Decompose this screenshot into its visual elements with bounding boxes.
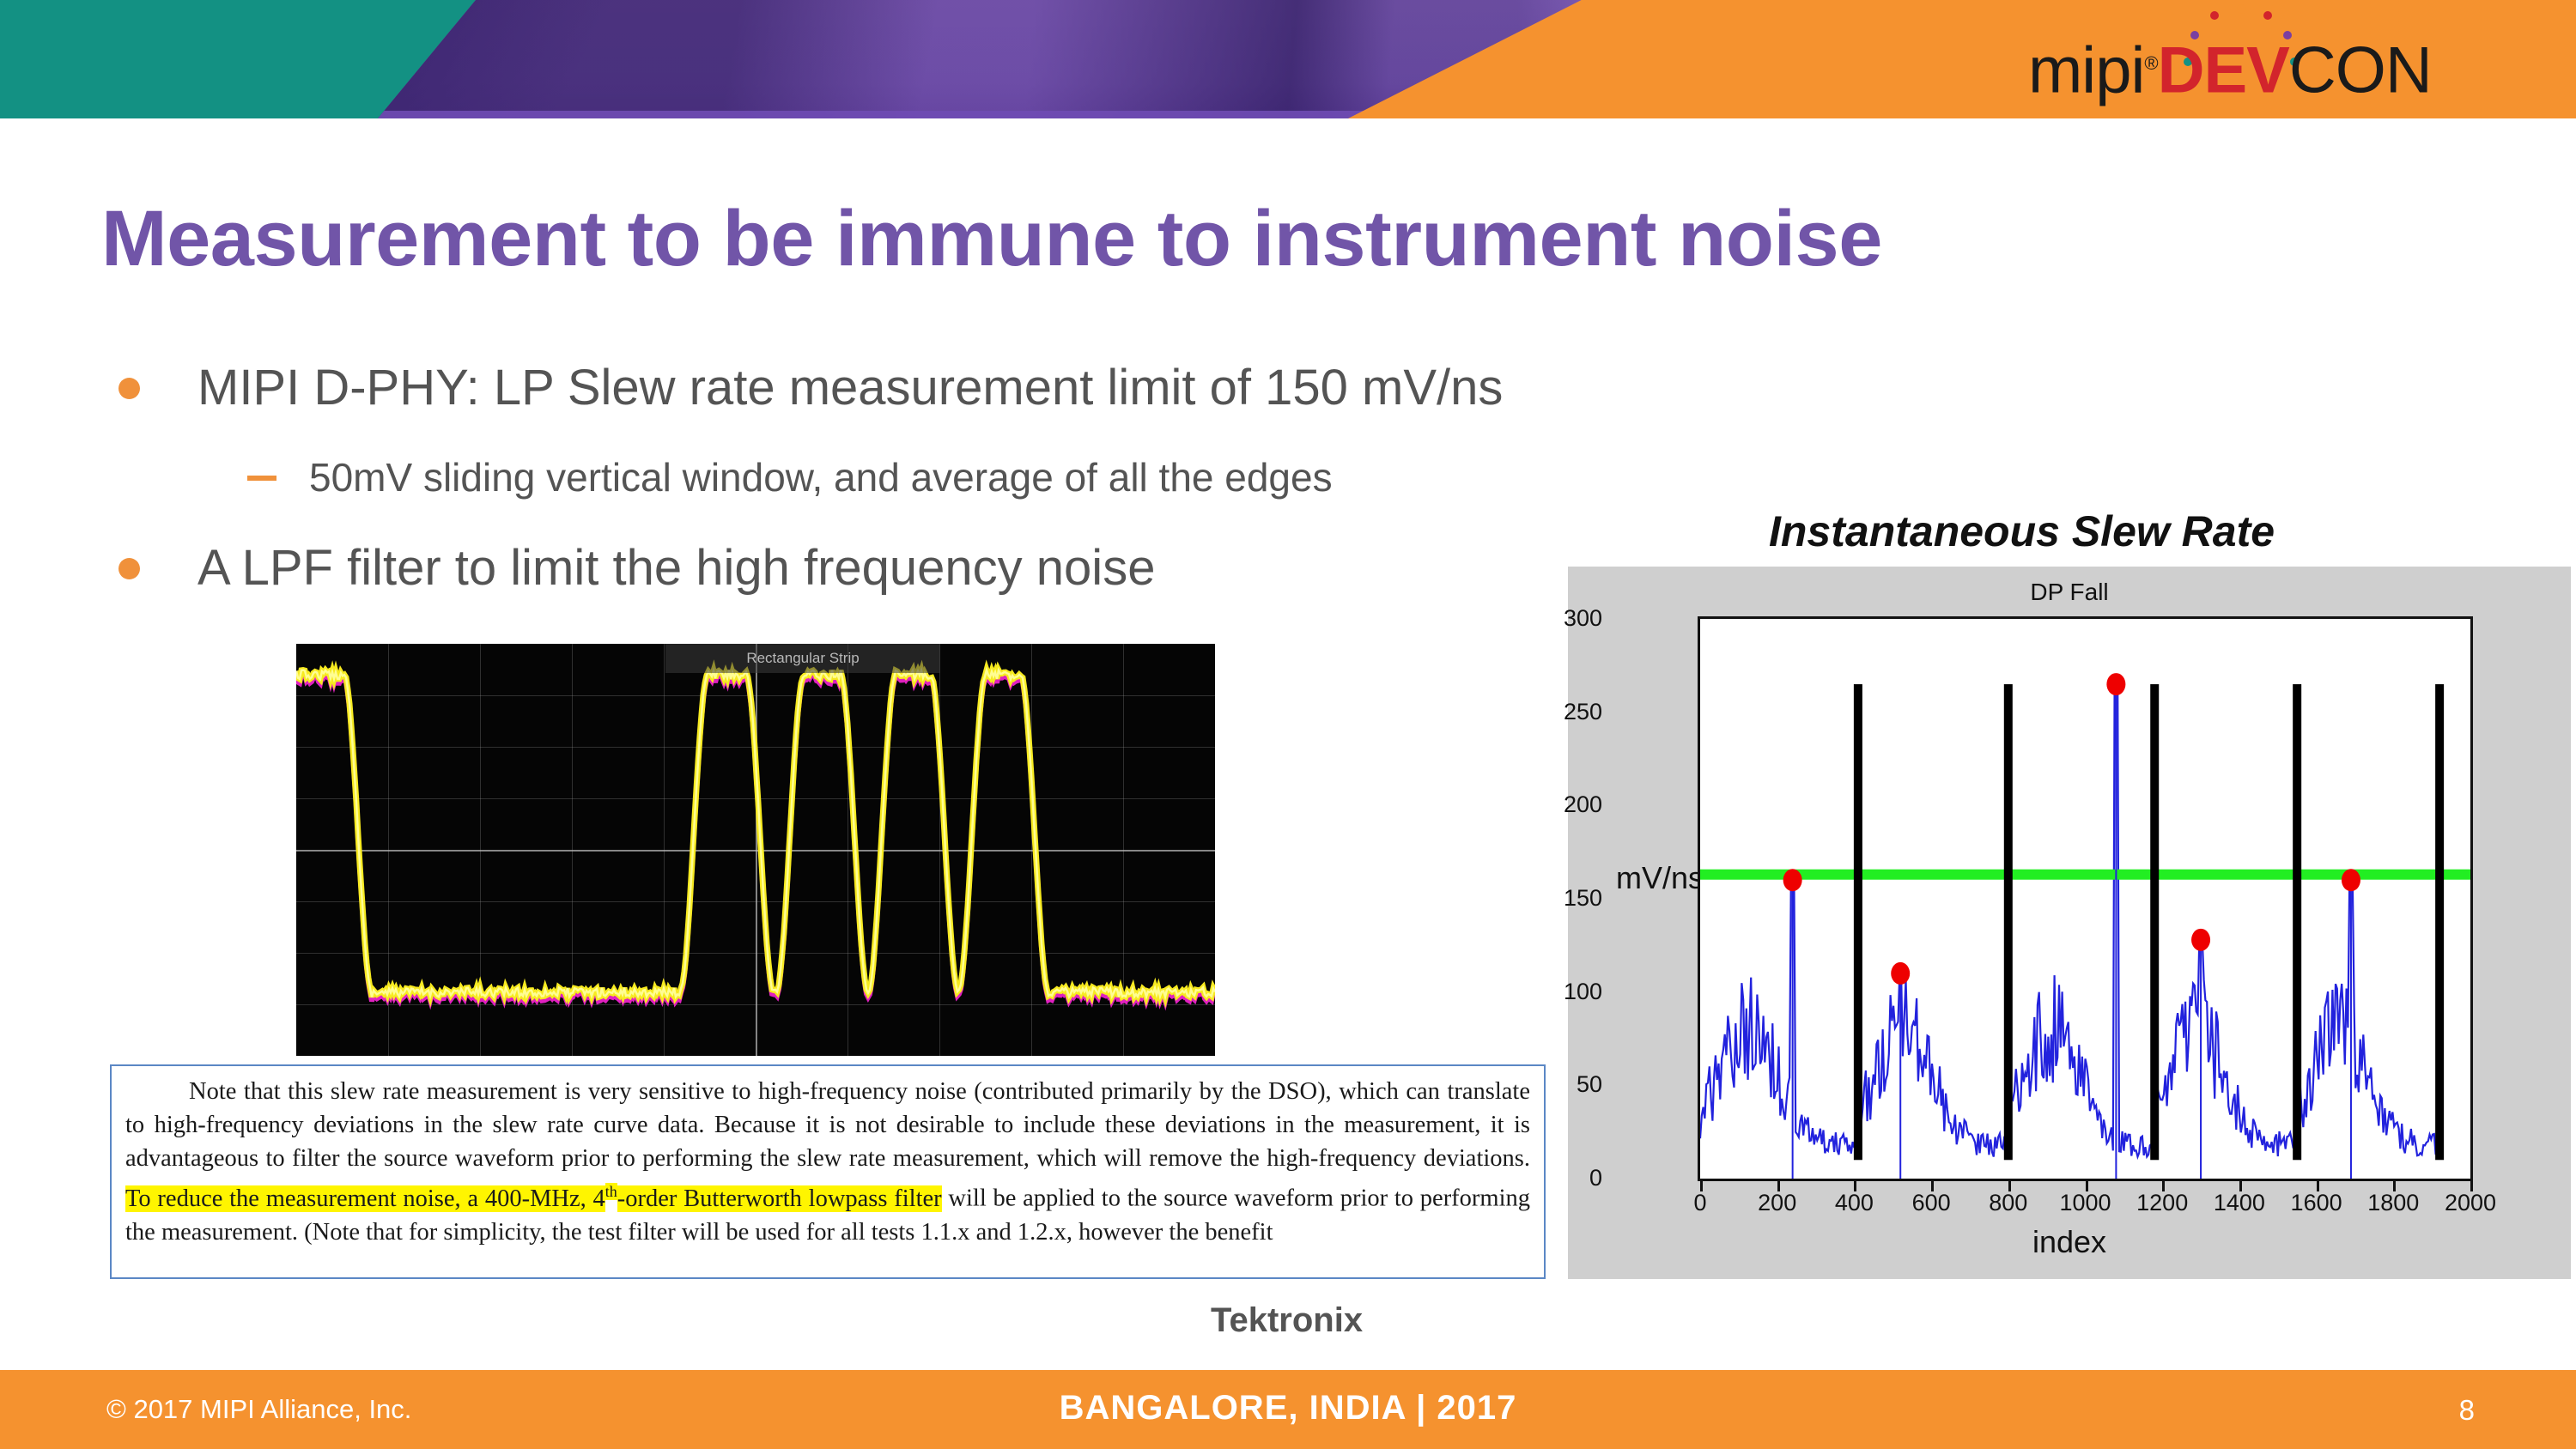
chart-noise-trace: [1700, 684, 2439, 1156]
x-axis-label: index: [1568, 1224, 2571, 1260]
scope-trace-path: [296, 670, 1215, 997]
x-tick-mark: [2008, 1181, 2011, 1191]
bullet-item-2-label: A LPF filter to limit the high frequency…: [197, 540, 1155, 596]
chart-edge-boundary: [2150, 684, 2159, 1160]
bullet-dot-icon: [118, 558, 140, 579]
x-tick-mark: [2162, 1181, 2165, 1191]
chart-panel: DP Fall 050100150200250300 0200400600800…: [1568, 567, 2571, 1279]
chart-svg: [1700, 619, 2470, 1179]
x-tick-label: 600: [1912, 1190, 1951, 1216]
chart-heading: Instantaneous Slew Rate: [1769, 506, 2275, 556]
logo-mipi-text: mipi: [2028, 33, 2144, 106]
chart-peak-marker: [2106, 673, 2125, 695]
oscilloscope-waveform: [296, 644, 1215, 1056]
chart-peak-marker: [2191, 929, 2210, 951]
x-tick-mark: [1931, 1181, 1934, 1191]
y-tick-label: 300: [1473, 605, 1602, 632]
mipi-devcon-logo: mipi®DEVCON: [2028, 7, 2543, 108]
x-tick-label: 1000: [2059, 1190, 2111, 1216]
bullet-item-1-sub: 50mV sliding vertical window, and averag…: [309, 455, 2112, 500]
slide: mipi®DEVCON Measurement to be immune to …: [0, 0, 2576, 1449]
x-tick-mark: [2317, 1181, 2319, 1191]
y-tick-label: 0: [1473, 1165, 1602, 1191]
x-tick-mark: [2470, 1181, 2473, 1191]
x-tick-mark: [1700, 1181, 1703, 1191]
y-tick-label: 200: [1473, 791, 1602, 818]
y-axis-label: mV/ns: [1575, 860, 1704, 896]
y-tick-label: 250: [1473, 699, 1602, 725]
bullet-dash-icon: [247, 476, 276, 481]
chart-edge-boundary: [2293, 684, 2301, 1160]
y-tick-label: 100: [1473, 979, 1602, 1005]
x-tick-mark: [1777, 1181, 1780, 1191]
x-tick-label: 200: [1758, 1190, 1796, 1216]
footer-page-number: 8: [2459, 1394, 2475, 1427]
x-tick-mark: [2086, 1181, 2088, 1191]
chart-peak-marker: [1891, 962, 1910, 985]
chart-peak-marker: [1783, 869, 1802, 891]
logo-registered-icon: ®: [2144, 52, 2157, 74]
x-tick-label: 2000: [2445, 1190, 2496, 1216]
chart-edge-boundary: [2004, 684, 2013, 1160]
quote-highlight-superscript: th: [605, 1183, 617, 1200]
chart-title: DP Fall: [1568, 579, 2571, 606]
logo-dev-text: DEV: [2158, 33, 2289, 106]
chart-edge-boundary: [1854, 684, 1862, 1160]
x-tick-mark: [2239, 1181, 2242, 1191]
quote-highlight-2: -order Butterworth lowpass filter: [617, 1185, 942, 1212]
logo-con-text: CON: [2289, 33, 2432, 106]
x-tick-label: 0: [1693, 1190, 1706, 1216]
scope-mode-badge: Rectangular Strip: [665, 644, 940, 673]
page-title: Measurement to be immune to instrument n…: [101, 196, 2471, 282]
footer-event: BANGALORE, INDIA | 2017: [0, 1389, 2576, 1428]
x-tick-label: 1400: [2214, 1190, 2265, 1216]
x-tick-label: 800: [1989, 1190, 2027, 1216]
x-tick-label: 1800: [2367, 1190, 2419, 1216]
x-tick-mark: [2393, 1181, 2396, 1191]
spec-quote-box: Note that this slew rate measurement is …: [110, 1064, 1546, 1279]
y-tick-label: 50: [1473, 1071, 1602, 1098]
chart-plot-area: [1698, 616, 2473, 1181]
x-tick-label: 1200: [2136, 1190, 2188, 1216]
chart-peak-marker: [2342, 869, 2360, 891]
quote-paragraph-1: Note that this slew rate measurement is …: [125, 1078, 1530, 1172]
x-tick-label: 1600: [2291, 1190, 2342, 1216]
x-tick-label: 400: [1835, 1190, 1874, 1216]
bullet-item-1-label: MIPI D-PHY: LP Slew rate measurement lim…: [197, 360, 1503, 415]
x-tick-mark: [1854, 1181, 1856, 1191]
source-label: Tektronix: [1211, 1301, 1363, 1340]
bullet-dot-icon: [118, 378, 140, 399]
quote-highlight-1: To reduce the measurement noise, a 400-M…: [125, 1185, 605, 1212]
oscilloscope-capture: Rectangular Strip: [296, 644, 1215, 1056]
slide-footer: © 2017 MIPI Alliance, Inc. BANGALORE, IN…: [0, 1370, 2576, 1449]
bullet-item-1: MIPI D-PHY: LP Slew rate measurement lim…: [197, 361, 2172, 415]
logo-wordmark: mipi®DEVCON: [2028, 29, 2543, 105]
bullet-item-1-sub-label: 50mV sliding vertical window, and averag…: [309, 455, 1333, 500]
chart-edge-boundary: [2435, 684, 2444, 1160]
